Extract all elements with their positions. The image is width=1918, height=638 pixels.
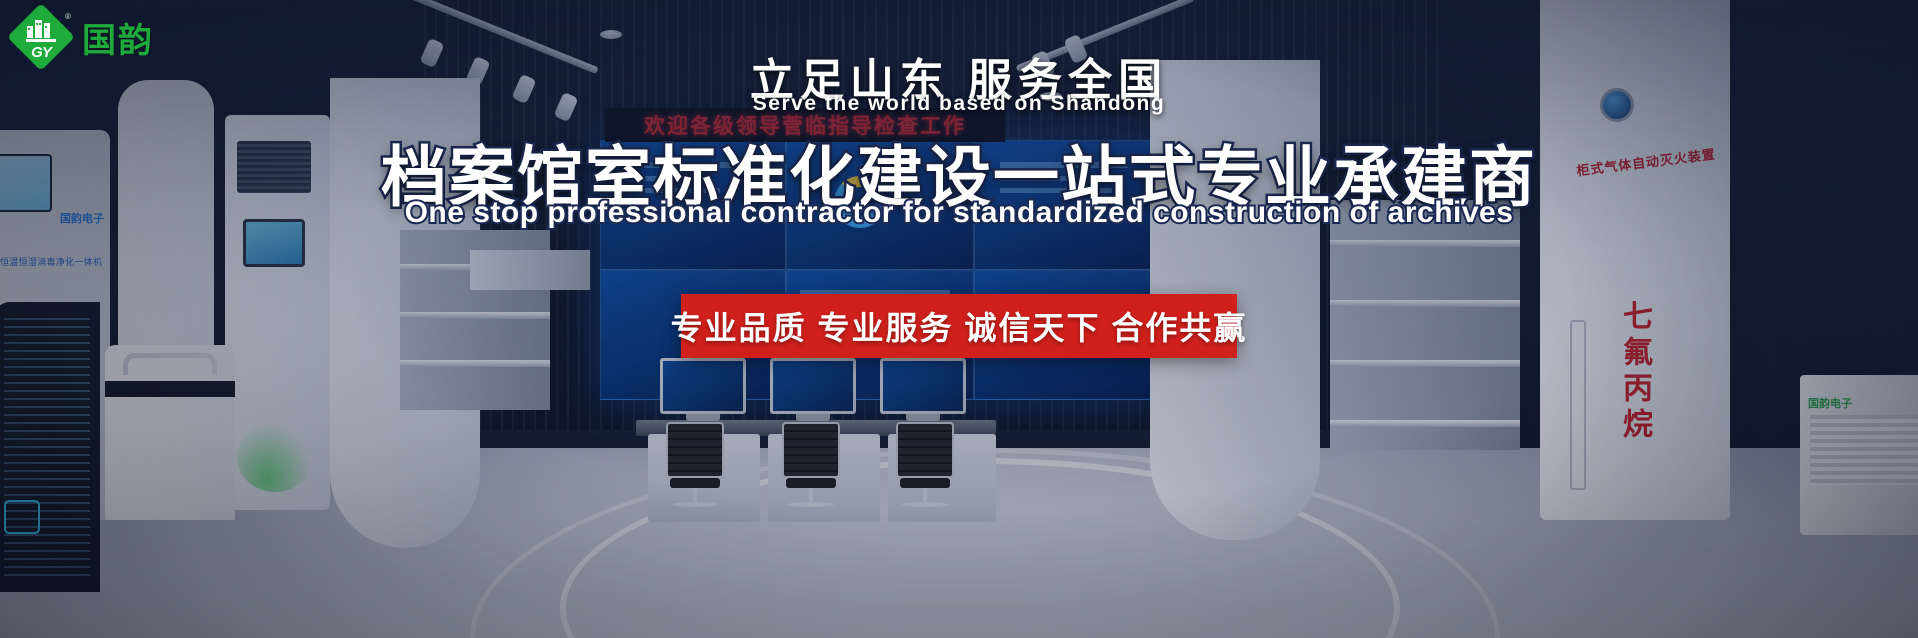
slogan-text: 专业品质 专业服务 诚信天下 合作共赢 bbox=[671, 303, 1248, 349]
brand-name: 国韵 bbox=[82, 13, 154, 62]
main-title-english: One stop professional contractor for sta… bbox=[0, 196, 1918, 230]
gy-building-diamond-icon: GY ® bbox=[10, 6, 72, 68]
brand-logo[interactable]: GY ® 国韵 bbox=[10, 6, 154, 68]
hero-text-overlay: GY ® 国韵 立足山东 服务全国 Serve the world based … bbox=[0, 0, 1918, 638]
headline-english: Serve the world based on Shandong bbox=[0, 92, 1918, 116]
slogan-banner: 专业品质 专业服务 诚信天下 合作共赢 bbox=[681, 294, 1237, 358]
hero-banner: 欢迎各级领导菅临指导检查工作 国韵电子 bbox=[0, 0, 1918, 638]
building-icon bbox=[26, 20, 56, 42]
registered-mark: ® bbox=[65, 12, 71, 21]
logo-mark-text: GY bbox=[10, 44, 72, 61]
